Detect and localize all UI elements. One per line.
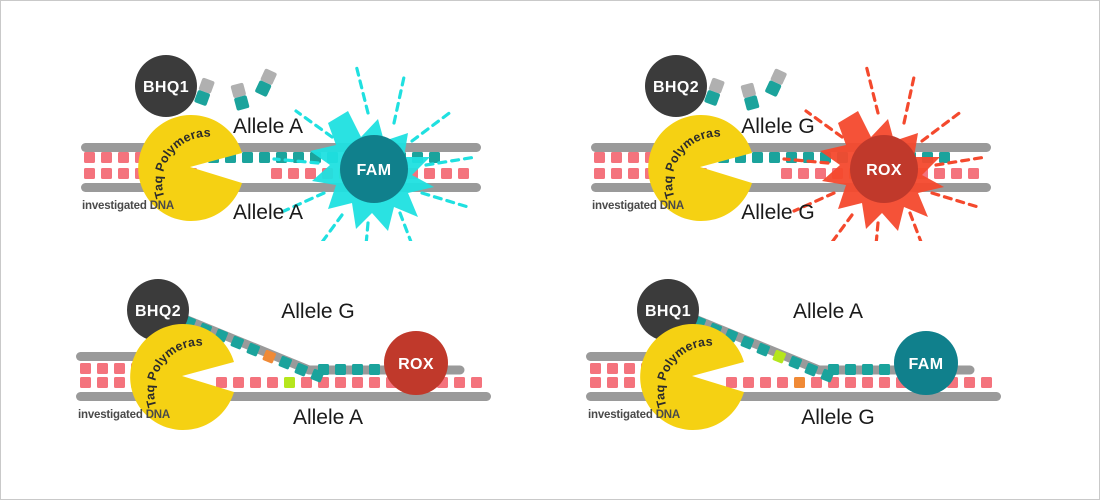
quencher-label-bhq2: BHQ2 [653,79,699,96]
quencher-label-bhq1: BHQ1 [143,79,189,96]
allele-label-top: Allele G [281,300,355,323]
investigated-dna-caption: investigated DNA [78,409,170,421]
investigated-dna-caption: investigated DNA [588,409,680,421]
reporter-label-rox: ROX [398,356,434,373]
reporter-label-fam: FAM [357,162,392,179]
quencher-label-bhq1: BHQ1 [645,303,691,320]
panel-bottom-right: BHQ1 Taq Polymerase FAM Allele A Allele … [566,266,1066,456]
released-fragments [194,68,277,111]
quencher-label-bhq2: BHQ2 [135,303,181,320]
allele-label-bottom: Allele A [293,406,363,429]
panel-bottom-left: BHQ2 Taq Polymerase ROX Allele G Allele … [56,266,556,456]
investigated-dna-caption: investigated DNA [592,200,684,212]
allele-label-bottom: Allele G [801,406,875,429]
allele-label-top: Allele G [741,115,815,138]
released-fragments [704,68,787,111]
dna-backbone-top [591,143,991,152]
figure-canvas: FAM BHQ1 Taq Polymerase Allele A Allele … [0,0,1100,500]
allele-label-top: Allele A [793,300,863,323]
panel-top-left: FAM BHQ1 Taq Polymerase Allele A Allele … [56,41,556,241]
allele-label-bottom: Allele G [741,201,815,224]
fam-fluorescence-burst [274,65,476,241]
template-snp-base [284,377,295,388]
reporter-label-rox: ROX [866,162,902,179]
dna-backbone-top [81,143,481,152]
panel-top-right: ROX BHQ2 Taq Polymerase Allele G Allele … [566,41,1066,241]
investigated-dna-caption: investigated DNA [82,200,174,212]
reporter-label-fam: FAM [909,356,944,373]
allele-label-top: Allele A [233,115,303,138]
allele-label-bottom: Allele A [233,201,303,224]
template-mismatch-base [794,377,805,388]
